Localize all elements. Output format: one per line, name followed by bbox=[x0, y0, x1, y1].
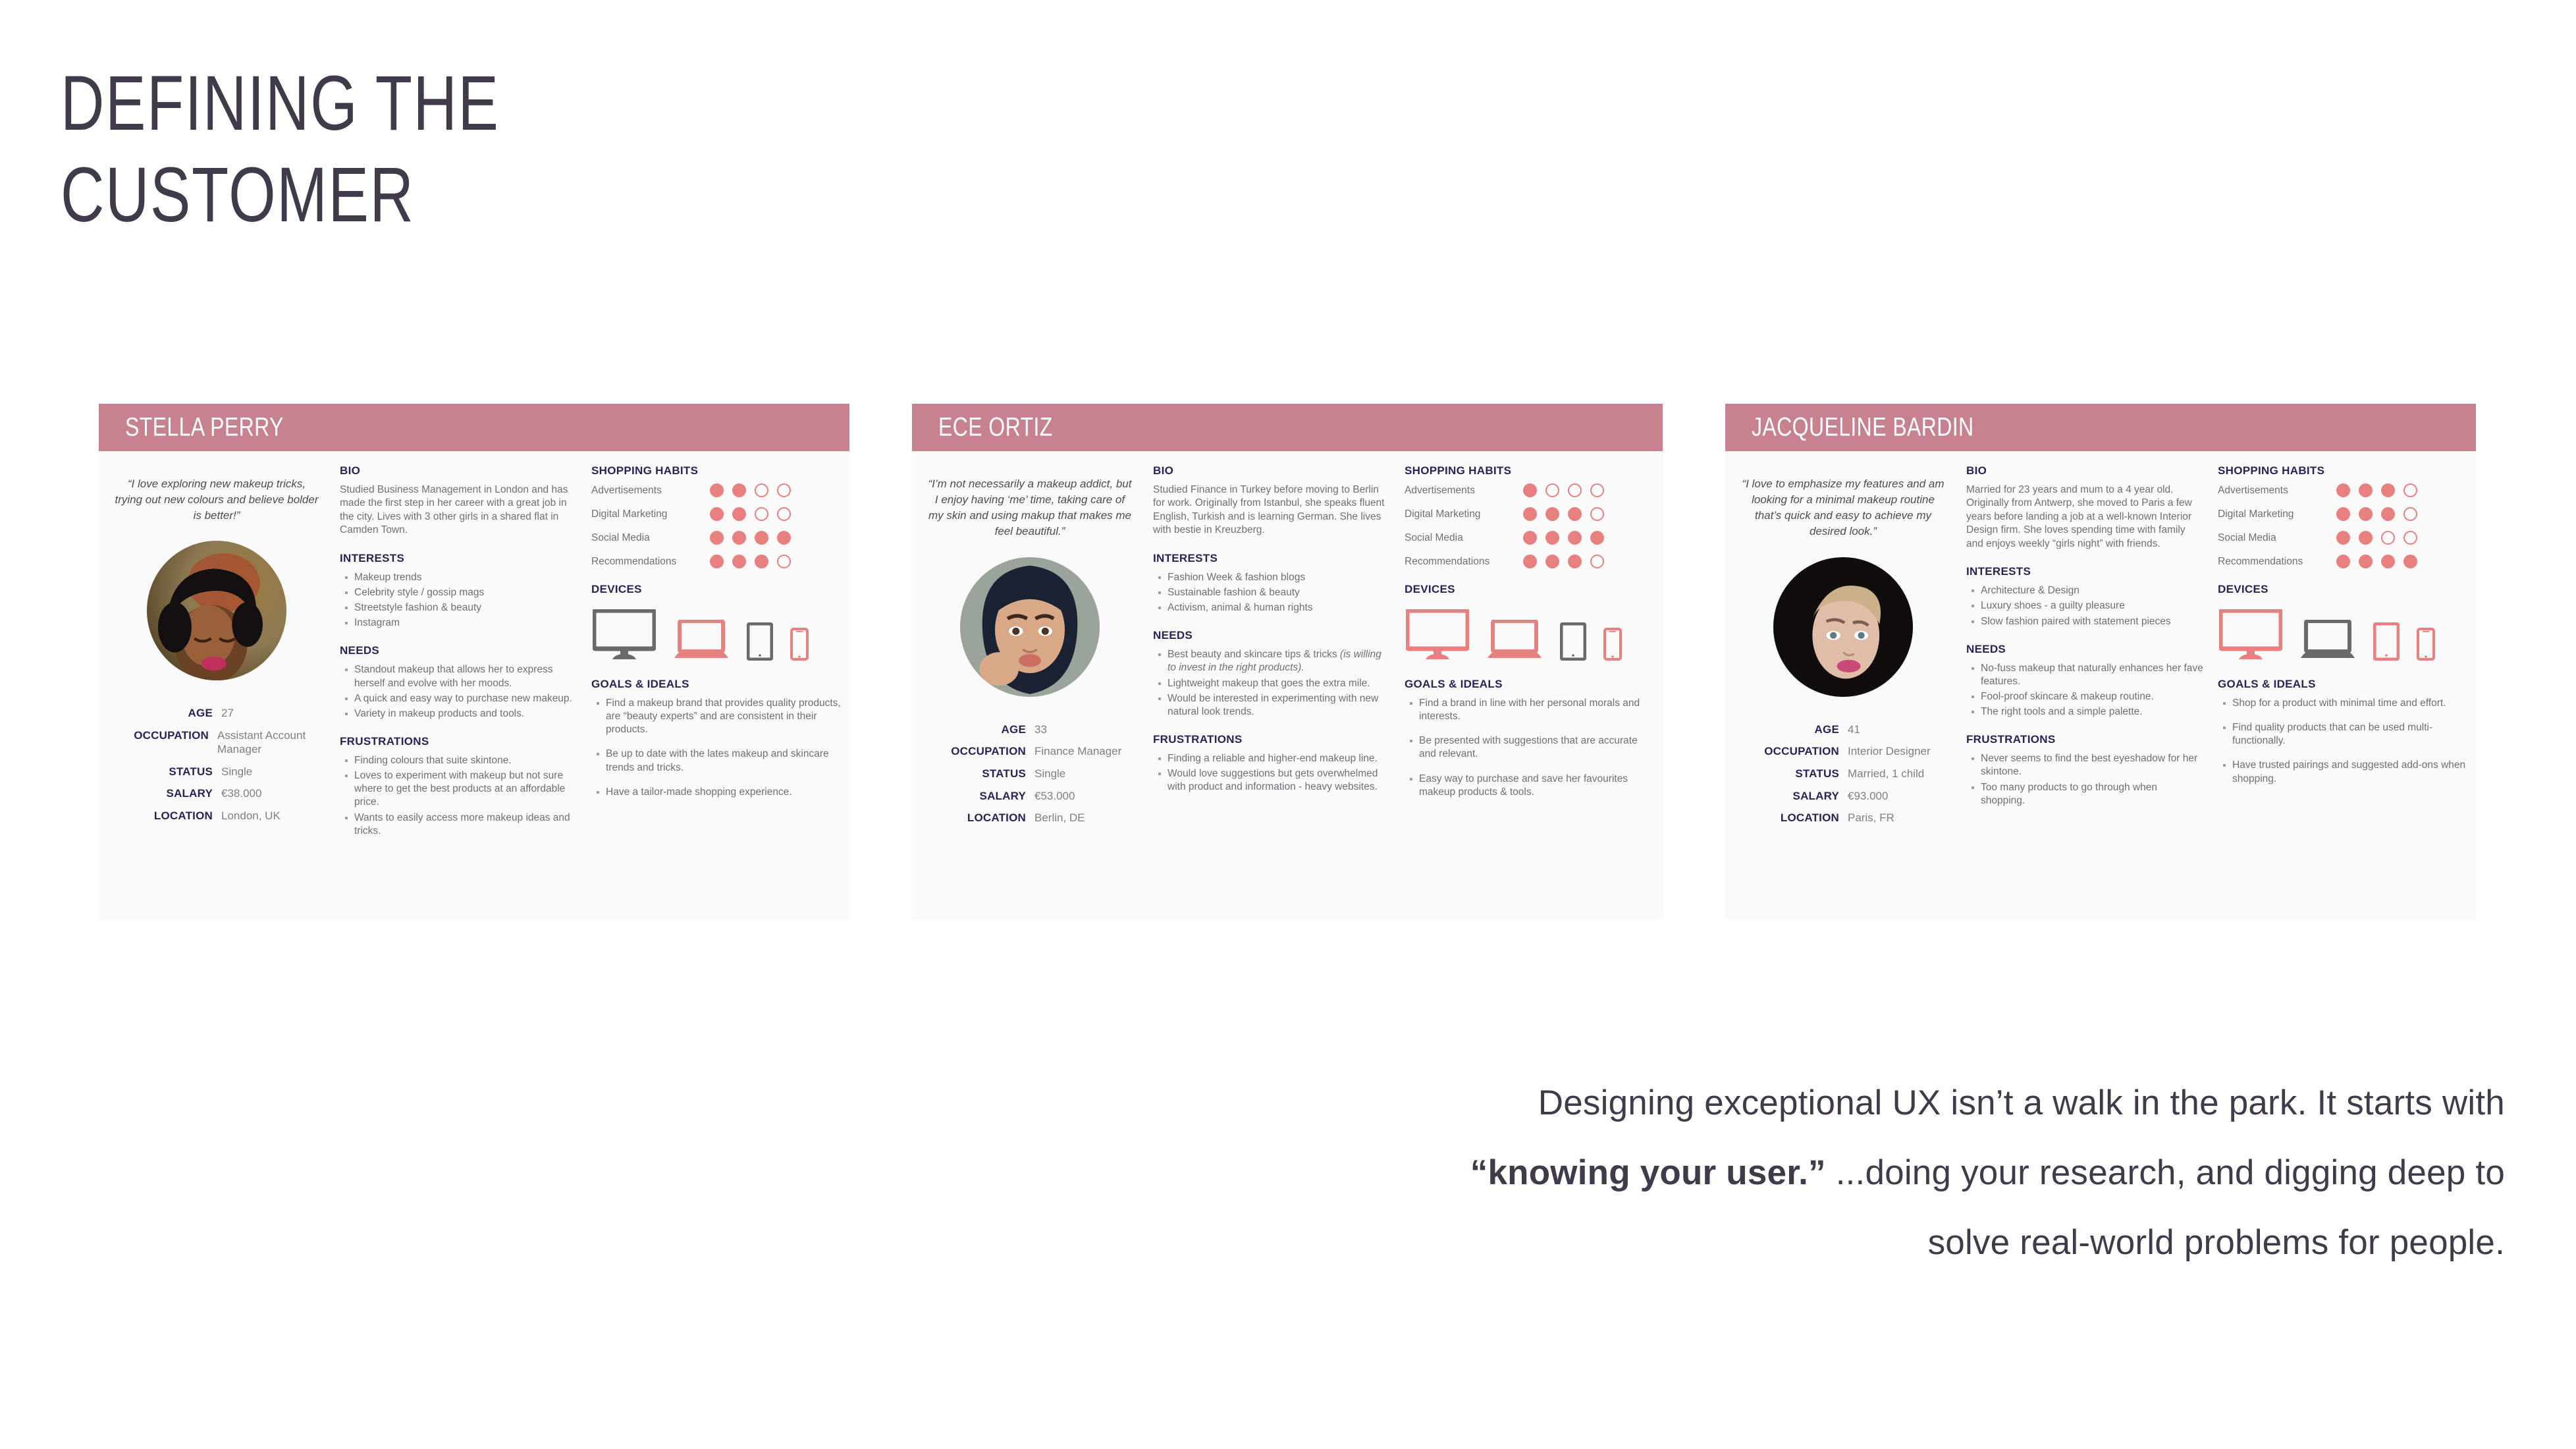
laptop-icon bbox=[2299, 620, 2356, 661]
stat-row-location: LOCATION Paris, FR bbox=[1737, 811, 1949, 825]
habit-row: Digital Marketing bbox=[2218, 507, 2469, 521]
persona-bio-column: BIO Studied Business Management in Londo… bbox=[336, 463, 587, 906]
interests-item: Activism, animal & human rights bbox=[1167, 601, 1390, 615]
stat-label-age: AGE bbox=[924, 723, 1034, 736]
needs-item: No-fuss makeup that naturally enhances h… bbox=[1981, 662, 2203, 688]
laptop-icon bbox=[673, 620, 730, 661]
stat-value-status: Married, 1 child bbox=[1848, 767, 1924, 781]
habit-dot bbox=[1523, 531, 1537, 545]
avatar-image-jacqueline bbox=[1773, 557, 1913, 697]
interests-item: Architecture & Design bbox=[1981, 584, 2203, 597]
stat-value-location: Berlin, DE bbox=[1034, 811, 1085, 825]
avatar bbox=[147, 541, 286, 680]
stat-row-location: LOCATION Berlin, DE bbox=[924, 811, 1136, 825]
section-heading-interests: INTERESTS bbox=[340, 552, 577, 565]
frustrations-item: Too many products to go through when sho… bbox=[1981, 781, 2203, 807]
stat-value-age: 41 bbox=[1848, 723, 1860, 737]
interests-item: Sustainable fashion & beauty bbox=[1167, 586, 1390, 599]
habit-dot bbox=[710, 483, 724, 497]
stat-row-location: LOCATION London, UK bbox=[111, 809, 323, 823]
stat-row-status: STATUS Married, 1 child bbox=[1737, 767, 1949, 781]
persona-name-ece: ECE ORTIZ bbox=[938, 413, 1053, 443]
habit-row: Digital Marketing bbox=[1405, 507, 1656, 521]
stat-label-occupation: OCCUPATION bbox=[111, 729, 217, 742]
habit-dot bbox=[710, 555, 724, 568]
needs-item: Would be interested in experimenting wit… bbox=[1167, 692, 1390, 719]
stat-row-occupation: OCCUPATION Assistant Account Manager bbox=[111, 729, 323, 756]
needs-item: Lightweight makeup that goes the extra m… bbox=[1167, 677, 1390, 690]
persona-header-ece: ECE ORTIZ bbox=[912, 404, 1663, 451]
habit-dot bbox=[755, 555, 768, 568]
closing-statement: Designing exceptional UX isn’t a walk in… bbox=[1385, 1068, 2505, 1278]
habit-label: Digital Marketing bbox=[1405, 508, 1523, 520]
interests-item: Fashion Week & fashion blogs bbox=[1167, 571, 1390, 584]
habit-label: Digital Marketing bbox=[2218, 508, 2336, 520]
bio-text: Studied Business Management in London an… bbox=[340, 483, 577, 537]
habit-dot bbox=[2359, 531, 2373, 545]
persona-name-stella: STELLA PERRY bbox=[125, 413, 284, 443]
persona-card-ece: ECE ORTIZ “I’m not necessarily a makeup … bbox=[912, 404, 1663, 919]
habit-dot bbox=[2336, 555, 2350, 568]
habit-dot bbox=[2336, 531, 2350, 545]
goals-item: Find a makeup brand that provides qualit… bbox=[606, 697, 843, 736]
bio-text: Married for 23 years and mum to a 4 year… bbox=[1966, 483, 2203, 551]
habit-label: Advertisements bbox=[2218, 485, 2336, 497]
tablet-icon bbox=[2373, 622, 2400, 661]
habit-dot bbox=[2403, 483, 2417, 497]
interests-item: Streetstyle fashion & beauty bbox=[354, 601, 577, 615]
habit-dot bbox=[2403, 507, 2417, 521]
section-heading-needs: NEEDS bbox=[1966, 643, 2203, 656]
avatar-image-stella bbox=[147, 541, 286, 680]
habit-row: Recommendations bbox=[1405, 555, 1656, 568]
closing-part-1: Designing exceptional UX isn’t a walk in… bbox=[1538, 1083, 2505, 1122]
habit-rating bbox=[1523, 531, 1604, 545]
desktop-icon bbox=[2219, 609, 2282, 661]
habit-dot bbox=[1590, 555, 1604, 568]
goals-item: Find quality products that can be used m… bbox=[2232, 721, 2469, 748]
goals-item: Easy way to purchase and save her favour… bbox=[1419, 773, 1656, 799]
stat-value-status: Single bbox=[1034, 767, 1065, 781]
interests-item: Instagram bbox=[354, 616, 577, 630]
section-heading-devices: DEVICES bbox=[591, 583, 843, 596]
stat-row-age: AGE 27 bbox=[111, 707, 323, 721]
habit-row: Digital Marketing bbox=[591, 507, 843, 521]
persona-header-jacqueline: JACQUELINE BARDIN bbox=[1725, 404, 2476, 451]
persona-body-ece: “I’m not necessarily a makeup addict, bu… bbox=[912, 451, 1663, 906]
habit-dot bbox=[1523, 483, 1537, 497]
phone-icon bbox=[2417, 628, 2435, 661]
habit-rating bbox=[2336, 483, 2417, 497]
section-heading-needs: NEEDS bbox=[1153, 629, 1390, 642]
goals-item: Have a tailor-made shopping experience. bbox=[606, 786, 843, 799]
stat-value-salary: €93.000 bbox=[1848, 790, 1888, 804]
needs-list: No-fuss makeup that naturally enhances h… bbox=[1966, 662, 2203, 719]
phone-icon bbox=[790, 628, 809, 661]
persona-habits-column: SHOPPING HABITS Advertisements Digital M… bbox=[1401, 463, 1663, 906]
closing-emphasis: “knowing your user.” bbox=[1470, 1153, 1826, 1192]
habit-dot bbox=[777, 483, 791, 497]
goals-item: Find a brand in line with her personal m… bbox=[1419, 697, 1656, 723]
frustrations-item: Wants to easily access more makeup ideas… bbox=[354, 811, 577, 838]
interests-list: Fashion Week & fashion blogsSustainable … bbox=[1153, 571, 1390, 615]
persona-habits-column: SHOPPING HABITS Advertisements Digital M… bbox=[2214, 463, 2476, 906]
habit-row: Social Media bbox=[591, 531, 843, 545]
habit-row: Advertisements bbox=[2218, 483, 2469, 497]
stat-label-location: LOCATION bbox=[111, 809, 221, 823]
habit-rating bbox=[710, 507, 791, 521]
stat-row-salary: SALARY €38.000 bbox=[111, 787, 323, 801]
habit-rating bbox=[710, 555, 791, 568]
section-heading-goals: GOALS & IDEALS bbox=[591, 678, 843, 691]
habit-dot bbox=[1568, 507, 1582, 521]
needs-list: Best beauty and skincare tips & tricks (… bbox=[1153, 648, 1390, 719]
habit-dot bbox=[1545, 555, 1559, 568]
stat-value-location: Paris, FR bbox=[1848, 811, 1894, 825]
frustrations-item: Finding colours that suite skintone. bbox=[354, 754, 577, 767]
section-heading-shopping-habits: SHOPPING HABITS bbox=[591, 464, 843, 478]
stat-value-status: Single bbox=[221, 765, 252, 779]
avatar-image-ece bbox=[960, 557, 1100, 697]
goals-list: Find a brand in line with her personal m… bbox=[1405, 697, 1656, 799]
interests-item: Celebrity style / gossip mags bbox=[354, 586, 577, 599]
persona-bio-column: BIO Married for 23 years and mum to a 4 … bbox=[1962, 463, 2214, 906]
habit-dot bbox=[2381, 507, 2395, 521]
page-title: DEFINING THE CUSTOMER bbox=[61, 58, 780, 241]
stat-label-age: AGE bbox=[1737, 723, 1848, 736]
stat-label-occupation: OCCUPATION bbox=[924, 745, 1034, 758]
persona-quote: “I’m not necessarily a makeup addict, bu… bbox=[924, 471, 1136, 540]
shopping-habits-group: Advertisements Digital Marketing Social … bbox=[591, 483, 843, 568]
stat-label-status: STATUS bbox=[1737, 767, 1848, 780]
habit-dot bbox=[2403, 531, 2417, 545]
habit-dot bbox=[777, 555, 791, 568]
closing-part-2: ...doing your research, and digging deep… bbox=[1826, 1153, 2505, 1262]
laptop-icon bbox=[1486, 620, 1543, 661]
habit-dot bbox=[1568, 555, 1582, 568]
goals-item: Shop for a product with minimal time and… bbox=[2232, 697, 2469, 710]
habit-dot bbox=[710, 507, 724, 521]
section-heading-bio: BIO bbox=[1153, 464, 1390, 478]
goals-item: Be presented with suggestions that are a… bbox=[1419, 734, 1656, 761]
stat-row-status: STATUS Single bbox=[111, 765, 323, 779]
stat-label-occupation: OCCUPATION bbox=[1737, 745, 1848, 758]
persona-stats: AGE 27 OCCUPATION Assistant Account Mana… bbox=[111, 707, 323, 823]
section-heading-frustrations: FRUSTRATIONS bbox=[1153, 733, 1390, 746]
frustrations-item: Never seems to find the best eyeshadow f… bbox=[1981, 752, 2203, 779]
habit-dot bbox=[1590, 483, 1604, 497]
habit-row: Recommendations bbox=[2218, 555, 2469, 568]
section-heading-devices: DEVICES bbox=[2218, 583, 2469, 596]
habit-dot bbox=[1590, 507, 1604, 521]
stat-value-occupation: Assistant Account Manager bbox=[217, 729, 323, 756]
stat-label-salary: SALARY bbox=[111, 787, 221, 800]
persona-quote: “I love exploring new makeup tricks, try… bbox=[111, 471, 323, 524]
goals-group: GOALS & IDEALS Shop for a product with m… bbox=[2218, 678, 2469, 786]
needs-item: A quick and easy way to purchase new mak… bbox=[354, 692, 577, 705]
goals-item: Be up to date with the lates makeup and … bbox=[606, 748, 843, 774]
persona-bio-column: BIO Studied Finance in Turkey before mov… bbox=[1149, 463, 1401, 906]
persona-profile-column: “I love exploring new makeup tricks, try… bbox=[99, 463, 336, 906]
section-heading-frustrations: FRUSTRATIONS bbox=[340, 735, 577, 748]
persona-body-jacqueline: “I love to emphasize my features and am … bbox=[1725, 451, 2476, 906]
habit-dot bbox=[755, 531, 768, 545]
habit-dot bbox=[1545, 507, 1559, 521]
habit-rating bbox=[1523, 507, 1604, 521]
interests-item: Slow fashion paired with statement piece… bbox=[1981, 615, 2203, 628]
section-heading-frustrations: FRUSTRATIONS bbox=[1966, 733, 2203, 746]
habit-dot bbox=[1545, 531, 1559, 545]
habit-row: Recommendations bbox=[591, 555, 843, 568]
stat-label-location: LOCATION bbox=[1737, 811, 1848, 825]
habit-dot bbox=[1523, 555, 1537, 568]
stat-value-age: 27 bbox=[221, 707, 234, 721]
habit-dot bbox=[1545, 483, 1559, 497]
avatar bbox=[1773, 557, 1913, 697]
bio-text: Studied Finance in Turkey before moving … bbox=[1153, 483, 1390, 537]
habit-label: Social Media bbox=[1405, 532, 1523, 544]
habit-dot bbox=[710, 531, 724, 545]
stat-label-status: STATUS bbox=[111, 765, 221, 779]
habit-dot bbox=[732, 483, 746, 497]
habit-label: Advertisements bbox=[591, 485, 710, 497]
section-heading-goals: GOALS & IDEALS bbox=[1405, 678, 1656, 691]
habit-label: Recommendations bbox=[1405, 556, 1523, 568]
section-heading-interests: INTERESTS bbox=[1153, 552, 1390, 565]
habit-row: Social Media bbox=[1405, 531, 1656, 545]
devices-group bbox=[593, 604, 843, 661]
needs-item: The right tools and a simple palette. bbox=[1981, 705, 2203, 719]
habit-dot bbox=[2403, 555, 2417, 568]
frustrations-item: Finding a reliable and higher-end makeup… bbox=[1167, 752, 1390, 765]
frustrations-list: Never seems to find the best eyeshadow f… bbox=[1966, 752, 2203, 807]
goals-item: Have trusted pairings and suggested add-… bbox=[2232, 759, 2469, 785]
stat-row-occupation: OCCUPATION Interior Designer bbox=[1737, 745, 1949, 759]
needs-item: Standout makeup that allows her to expre… bbox=[354, 663, 577, 690]
stat-value-salary: €53.000 bbox=[1034, 790, 1075, 804]
habit-rating bbox=[2336, 555, 2417, 568]
habit-dot bbox=[755, 483, 768, 497]
goals-group: GOALS & IDEALS Find a brand in line with… bbox=[1405, 678, 1656, 799]
goals-list: Find a makeup brand that provides qualit… bbox=[591, 697, 843, 799]
stat-label-age: AGE bbox=[111, 707, 221, 720]
section-heading-interests: INTERESTS bbox=[1966, 565, 2203, 578]
stat-value-location: London, UK bbox=[221, 809, 281, 823]
stat-label-location: LOCATION bbox=[924, 811, 1034, 825]
frustrations-item: Would love suggestions but gets overwhel… bbox=[1167, 767, 1390, 794]
stat-label-status: STATUS bbox=[924, 767, 1034, 780]
stat-row-salary: SALARY €93.000 bbox=[1737, 790, 1949, 804]
desktop-icon bbox=[593, 609, 656, 661]
habit-dot bbox=[1523, 507, 1537, 521]
persona-card-jacqueline: JACQUELINE BARDIN “I love to emphasize m… bbox=[1725, 404, 2476, 919]
tablet-icon bbox=[747, 622, 773, 661]
habit-row: Advertisements bbox=[591, 483, 843, 497]
habit-dot bbox=[2381, 483, 2395, 497]
habit-rating bbox=[710, 483, 791, 497]
habit-rating bbox=[2336, 531, 2417, 545]
stat-value-age: 33 bbox=[1034, 723, 1047, 737]
habit-dot bbox=[2381, 531, 2395, 545]
persona-header-stella: STELLA PERRY bbox=[99, 404, 849, 451]
stat-label-salary: SALARY bbox=[1737, 790, 1848, 803]
habit-label: Digital Marketing bbox=[591, 508, 710, 520]
habit-label: Social Media bbox=[2218, 532, 2336, 544]
stat-value-occupation: Interior Designer bbox=[1848, 745, 1931, 759]
habit-dot bbox=[777, 507, 791, 521]
habit-dot bbox=[777, 531, 791, 545]
shopping-habits-group: Advertisements Digital Marketing Social … bbox=[2218, 483, 2469, 568]
habit-dot bbox=[2359, 507, 2373, 521]
section-heading-shopping-habits: SHOPPING HABITS bbox=[1405, 464, 1656, 478]
habit-dot bbox=[2381, 555, 2395, 568]
frustrations-item: Loves to experiment with makeup but not … bbox=[354, 769, 577, 809]
habit-label: Social Media bbox=[591, 532, 710, 544]
persona-card-stella: STELLA PERRY “I love exploring new makeu… bbox=[99, 404, 849, 919]
devices-group bbox=[1406, 604, 1656, 661]
stat-row-occupation: OCCUPATION Finance Manager bbox=[924, 745, 1136, 759]
habit-label: Recommendations bbox=[591, 556, 710, 568]
habit-rating bbox=[1523, 555, 1604, 568]
persona-stats: AGE 41 OCCUPATION Interior Designer STAT… bbox=[1737, 723, 1949, 826]
stat-row-status: STATUS Single bbox=[924, 767, 1136, 781]
persona-profile-column: “I love to emphasize my features and am … bbox=[1725, 463, 1962, 906]
shopping-habits-group: Advertisements Digital Marketing Social … bbox=[1405, 483, 1656, 568]
frustrations-list: Finding a reliable and higher-end makeup… bbox=[1153, 752, 1390, 794]
habit-dot bbox=[2359, 555, 2373, 568]
interests-list: Makeup trendsCelebrity style / gossip ma… bbox=[340, 571, 577, 630]
frustrations-list: Finding colours that suite skintone.Love… bbox=[340, 754, 577, 838]
interests-item: Luxury shoes - a guilty pleasure bbox=[1981, 599, 2203, 613]
needs-item: Fool-proof skincare & makeup routine. bbox=[1981, 690, 2203, 703]
desktop-icon bbox=[1406, 609, 1469, 661]
habit-label: Recommendations bbox=[2218, 556, 2336, 568]
goals-group: GOALS & IDEALS Find a makeup brand that … bbox=[591, 678, 843, 799]
stat-value-occupation: Finance Manager bbox=[1034, 745, 1121, 759]
phone-icon bbox=[1603, 628, 1622, 661]
habit-dot bbox=[732, 531, 746, 545]
habit-label: Advertisements bbox=[1405, 485, 1523, 497]
habit-rating bbox=[1523, 483, 1604, 497]
interests-item: Makeup trends bbox=[354, 571, 577, 584]
persona-quote: “I love to emphasize my features and am … bbox=[1737, 471, 1949, 540]
needs-item: Variety in makeup products and tools. bbox=[354, 707, 577, 721]
habit-rating bbox=[2336, 507, 2417, 521]
persona-body-stella: “I love exploring new makeup tricks, try… bbox=[99, 451, 849, 906]
stat-row-age: AGE 33 bbox=[924, 723, 1136, 737]
habit-dot bbox=[755, 507, 768, 521]
section-heading-devices: DEVICES bbox=[1405, 583, 1656, 596]
habit-row: Advertisements bbox=[1405, 483, 1656, 497]
habit-row: Social Media bbox=[2218, 531, 2469, 545]
stat-value-salary: €38.000 bbox=[221, 787, 261, 801]
habit-dot bbox=[1568, 531, 1582, 545]
goals-list: Shop for a product with minimal time and… bbox=[2218, 697, 2469, 786]
habit-dot bbox=[2336, 483, 2350, 497]
section-heading-needs: NEEDS bbox=[340, 644, 577, 657]
needs-item: Best beauty and skincare tips & tricks (… bbox=[1167, 648, 1390, 674]
habit-dot bbox=[1568, 483, 1582, 497]
section-heading-goals: GOALS & IDEALS bbox=[2218, 678, 2469, 691]
section-heading-bio: BIO bbox=[1966, 464, 2203, 478]
persona-stats: AGE 33 OCCUPATION Finance Manager STATUS… bbox=[924, 723, 1136, 826]
habit-dot bbox=[2336, 507, 2350, 521]
habit-dot bbox=[2359, 483, 2373, 497]
habit-rating bbox=[710, 531, 791, 545]
tablet-icon bbox=[1560, 622, 1586, 661]
needs-list: Standout makeup that allows her to expre… bbox=[340, 663, 577, 721]
devices-group bbox=[2219, 604, 2469, 661]
stat-row-age: AGE 41 bbox=[1737, 723, 1949, 737]
persona-habits-column: SHOPPING HABITS Advertisements Digital M… bbox=[587, 463, 849, 906]
interests-list: Architecture & DesignLuxury shoes - a gu… bbox=[1966, 584, 2203, 628]
section-heading-bio: BIO bbox=[340, 464, 577, 478]
avatar bbox=[960, 557, 1100, 697]
habit-dot bbox=[732, 555, 746, 568]
persona-profile-column: “I’m not necessarily a makeup addict, bu… bbox=[912, 463, 1149, 906]
section-heading-shopping-habits: SHOPPING HABITS bbox=[2218, 464, 2469, 478]
persona-name-jacqueline: JACQUELINE BARDIN bbox=[1752, 413, 1974, 443]
habit-dot bbox=[1590, 531, 1604, 545]
habit-dot bbox=[732, 507, 746, 521]
stat-row-salary: SALARY €53.000 bbox=[924, 790, 1136, 804]
stat-label-salary: SALARY bbox=[924, 790, 1034, 803]
